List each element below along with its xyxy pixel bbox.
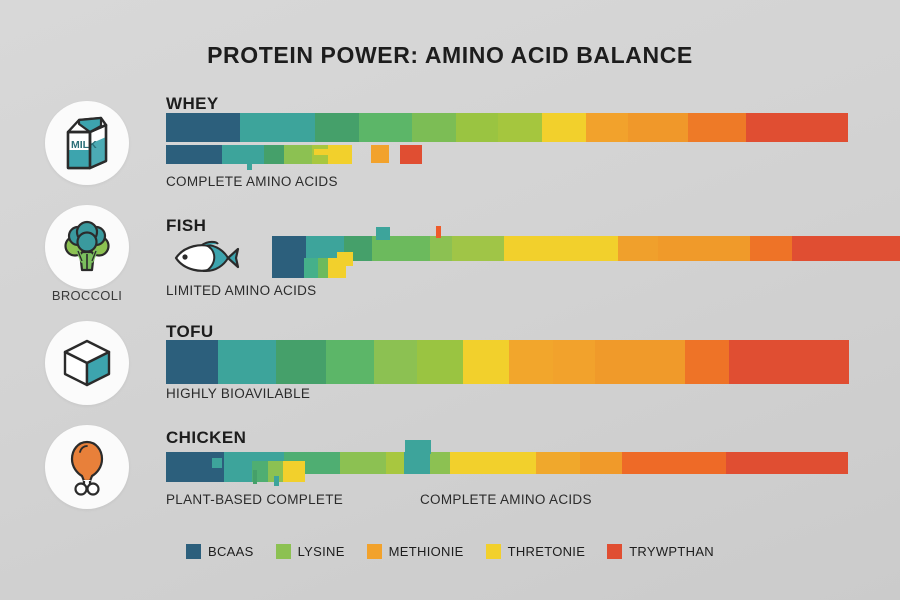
bar-accent-block — [314, 149, 340, 155]
page-title: PROTEIN POWER: AMINO ACID BALANCE — [0, 42, 900, 69]
bar-accent-block — [283, 461, 305, 482]
bar-segment — [463, 340, 509, 384]
milk-carton-icon: MILK — [60, 114, 114, 172]
bar-whey-main — [166, 113, 848, 142]
legend-swatch — [186, 544, 201, 559]
bar-segment — [628, 113, 688, 142]
bar-segment — [578, 236, 618, 261]
bar-segment — [504, 236, 578, 261]
bar-accent-block — [371, 145, 389, 163]
bar-segment — [622, 452, 726, 474]
legend-swatch — [276, 544, 291, 559]
bar-accent-block — [212, 458, 222, 468]
bar-segment — [618, 236, 658, 261]
infographic-root: PROTEIN POWER: AMINO ACID BALANCE MILK — [0, 0, 900, 600]
bar-segment — [374, 340, 417, 384]
sidebar-caption-broccoli: BROCCOLI — [17, 288, 157, 303]
bar-fish-sub — [272, 258, 346, 278]
icon-badge-chicken — [45, 425, 129, 509]
row-title-fish: FISH — [166, 216, 206, 236]
legend-swatch — [486, 544, 501, 559]
bar-segment — [580, 452, 622, 474]
row-caption-chicken-1: PLANT-BASED COMPLETE — [166, 492, 343, 507]
bar-segment — [688, 113, 746, 142]
bar-segment — [746, 113, 848, 142]
bar-segment — [284, 145, 312, 164]
bar-segment — [542, 113, 586, 142]
bar-segment — [359, 113, 412, 142]
bar-segment — [224, 461, 252, 482]
bar-segment — [264, 145, 284, 164]
bar-segment — [750, 236, 792, 261]
row-caption-whey: COMPLETE AMINO ACIDS — [166, 174, 338, 189]
row-title-chicken: CHICKEN — [166, 428, 246, 448]
bar-accent-block — [436, 226, 441, 238]
bar-segment — [452, 236, 504, 261]
legend-label: TRYWPTHAN — [629, 544, 714, 559]
bar-segment — [595, 340, 685, 384]
bar-segment — [509, 340, 553, 384]
bar-segment — [276, 340, 326, 384]
legend-item[interactable]: THRETONIE — [486, 544, 586, 559]
bar-accent-block — [337, 252, 353, 266]
bar-fish-main — [272, 236, 900, 261]
bar-segment — [318, 258, 328, 278]
row-caption-fish: LIMITED AMINO ACIDS — [166, 283, 316, 298]
bar-segment — [240, 113, 315, 142]
legend-label: BCAAS — [208, 544, 254, 559]
icon-badge-broccoli — [45, 205, 129, 289]
legend-label: LYSINE — [298, 544, 345, 559]
broccoli-icon — [58, 218, 116, 276]
legend-swatch — [607, 544, 622, 559]
icon-badge-tofu — [45, 321, 129, 405]
legend-item[interactable]: TRYWPTHAN — [607, 544, 714, 559]
bar-segment — [304, 258, 318, 278]
bar-segment — [430, 452, 450, 474]
bar-segment — [166, 113, 240, 142]
bar-segment — [685, 340, 729, 384]
bar-segment — [430, 236, 452, 261]
bar-segment — [340, 452, 386, 474]
bar-segment — [726, 452, 848, 474]
row-title-whey: WHEY — [166, 94, 219, 114]
bar-segment — [412, 113, 456, 142]
bar-accent-block — [247, 156, 252, 170]
bar-segment — [404, 452, 430, 474]
bar-accent-block — [400, 145, 422, 164]
legend-item[interactable]: BCAAS — [186, 544, 254, 559]
legend: BCAASLYSINEMETHIONIETHRETONIETRYWPTHAN — [0, 544, 900, 559]
bar-segment — [456, 113, 498, 142]
fish-icon — [168, 238, 240, 278]
bar-segment — [326, 340, 374, 384]
bar-segment — [553, 340, 595, 384]
chicken-drumstick-icon — [62, 437, 112, 497]
row-title-tofu: TOFU — [166, 322, 214, 342]
fish-inline-icon-wrapper — [168, 238, 240, 283]
row-caption-chicken-2: COMPLETE AMINO ACIDS — [420, 492, 592, 507]
row-caption-tofu: HIGHLY BIOAVILABLE — [166, 386, 310, 401]
legend-label: THRETONIE — [508, 544, 586, 559]
bar-accent-block — [253, 470, 257, 484]
bar-segment — [492, 452, 536, 474]
bar-segment — [498, 113, 542, 142]
bar-segment — [729, 340, 849, 384]
bar-segment — [586, 113, 628, 142]
bar-segment — [450, 452, 492, 474]
bar-segment — [658, 236, 750, 261]
bar-segment — [417, 340, 463, 384]
bar-segment — [218, 340, 276, 384]
bar-segment — [272, 258, 304, 278]
bar-tofu-main — [166, 340, 849, 384]
bar-segment — [166, 340, 218, 384]
bar-riser-block — [405, 440, 431, 454]
bar-segment — [536, 452, 580, 474]
legend-item[interactable]: METHIONIE — [367, 544, 464, 559]
bar-segment — [792, 236, 900, 261]
bar-segment — [166, 145, 222, 164]
legend-label: METHIONIE — [389, 544, 464, 559]
bar-segment — [222, 145, 264, 164]
legend-item[interactable]: LYSINE — [276, 544, 345, 559]
bar-segment — [386, 452, 404, 474]
legend-swatch — [367, 544, 382, 559]
bar-segment — [315, 113, 359, 142]
bar-accent-block — [274, 476, 279, 486]
svg-text:MILK: MILK — [71, 139, 97, 151]
bar-accent-block — [376, 227, 390, 240]
icon-badge-milk: MILK — [45, 101, 129, 185]
tofu-cube-icon — [59, 335, 115, 391]
